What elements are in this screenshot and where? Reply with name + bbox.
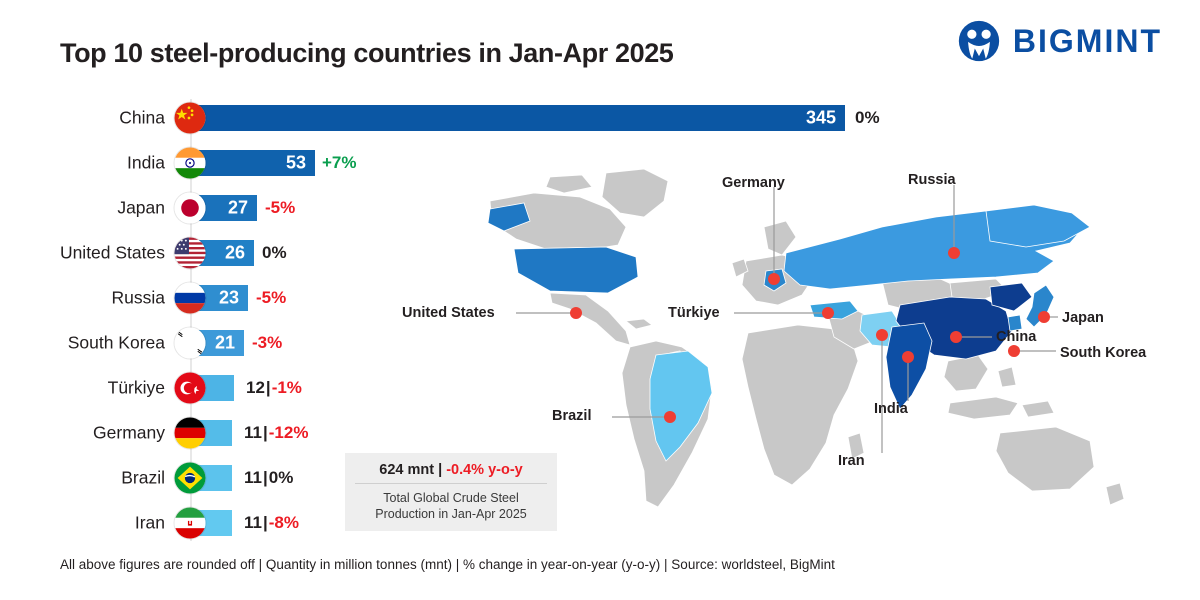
bar-value: 23	[219, 287, 239, 308]
bar-country-label: India	[127, 152, 165, 173]
bar-country-label: China	[119, 107, 165, 128]
bar-country-label: United States	[60, 242, 165, 263]
header: Top 10 steel-producing countries in Jan-…	[0, 0, 1200, 92]
bar-value: 27	[228, 197, 248, 218]
map-label-turkiye: Türkiye	[668, 305, 720, 321]
bar-change: -3%	[252, 333, 282, 353]
flag-br-icon	[175, 462, 206, 493]
bar-country-label: Russia	[112, 287, 166, 308]
flag-us-icon	[175, 237, 206, 268]
bar-change: +7%	[322, 153, 357, 173]
map-marker-turkiye	[822, 307, 834, 319]
brand-name: BIGMINT	[1013, 25, 1162, 57]
table-row[interactable]: United States 26 0%	[0, 230, 440, 275]
table-row[interactable]: Russia 23 -5%	[0, 275, 440, 320]
bar-change: -5%	[256, 288, 286, 308]
map-marker-united-states	[570, 307, 582, 319]
bar-change: -12%	[269, 423, 309, 442]
map-label-japan: Japan	[1062, 310, 1104, 326]
table-row[interactable]: India 53 +7%	[0, 140, 440, 185]
bar-change: -5%	[265, 198, 295, 218]
bar-track: 53	[190, 150, 315, 176]
bar-change: -1%	[272, 378, 302, 397]
bar-value: 12	[246, 378, 265, 397]
bar-value: 21	[215, 332, 235, 353]
footnote: All above figures are rounded off | Quan…	[60, 557, 835, 572]
bar-value: 11	[244, 423, 262, 442]
bar-fill: 53	[190, 150, 315, 176]
map-country-russia-east	[986, 205, 1090, 247]
flag-kr-icon	[175, 327, 206, 358]
bar-value-change: 11|0%	[244, 468, 293, 488]
bar-track: 345	[190, 105, 845, 131]
map-marker-germany	[768, 273, 780, 285]
flag-ru-icon	[175, 282, 206, 313]
value-separator: |	[262, 513, 269, 532]
bar-country-label: Türkiye	[108, 377, 165, 398]
page-title: Top 10 steel-producing countries in Jan-…	[60, 38, 673, 69]
map-marker-south-korea	[1008, 345, 1020, 357]
bar-value: 26	[225, 242, 245, 263]
flag-jp-icon	[175, 192, 206, 223]
map-country-brazil	[650, 351, 712, 461]
world-map: Germany Russia United States Türkiye Jap…	[430, 165, 1200, 555]
map-label-iran: Iran	[838, 453, 865, 469]
brand-logo: BIGMINT	[958, 20, 1162, 62]
flag-ir-icon	[175, 507, 206, 538]
map-country-united-states	[514, 247, 638, 293]
map-label-india: India	[874, 401, 908, 417]
flag-tr-icon	[175, 372, 206, 403]
flag-in-icon	[175, 147, 206, 178]
bar-value-change: 11|-12%	[244, 423, 308, 443]
map-marker-russia	[948, 247, 960, 259]
table-row[interactable]: China 345 0%	[0, 95, 440, 140]
bar-country-label: Iran	[135, 512, 165, 533]
map-label-germany: Germany	[722, 175, 785, 191]
bar-change: -8%	[269, 513, 299, 532]
bar-country-label: Japan	[117, 197, 165, 218]
bar-value: 53	[286, 152, 306, 173]
summary-total: 624 mnt	[379, 462, 434, 478]
bar-value: 345	[806, 107, 836, 128]
map-label-brazil: Brazil	[552, 408, 592, 424]
map-label-south-korea: South Korea	[1060, 345, 1146, 361]
value-separator: |	[262, 423, 269, 442]
bar-value-change: 11|-8%	[244, 513, 299, 533]
bar-change: 0%	[269, 468, 294, 487]
bigmint-logo-icon	[958, 20, 1000, 62]
map-label-united-states: United States	[402, 305, 495, 321]
map-marker-japan	[1038, 311, 1050, 323]
map-marker-india	[902, 351, 914, 363]
bar-value: 11	[244, 513, 262, 532]
bar-country-label: Germany	[93, 422, 165, 443]
bar-change: 0%	[855, 108, 880, 128]
bar-country-label: South Korea	[68, 332, 165, 353]
table-row[interactable]: Japan 27 -5%	[0, 185, 440, 230]
bar-change: 0%	[262, 243, 287, 263]
map-label-china: China	[996, 329, 1036, 345]
map-country-india	[886, 323, 932, 409]
bar-fill: 345	[190, 105, 845, 131]
flag-de-icon	[175, 417, 206, 448]
flag-cn-icon	[175, 102, 206, 133]
map-label-russia: Russia	[908, 172, 956, 188]
map-marker-iran	[876, 329, 888, 341]
table-row[interactable]: South Korea 21 -3%	[0, 320, 440, 365]
bar-country-label: Brazil	[121, 467, 165, 488]
value-separator: |	[265, 378, 272, 397]
bar-value: 11	[244, 468, 262, 487]
bar-value-change: 12|-1%	[246, 378, 302, 398]
table-row[interactable]: Germany 11|-12%	[0, 410, 440, 455]
value-separator: |	[262, 468, 269, 487]
map-marker-china	[950, 331, 962, 343]
table-row[interactable]: Türkiye 12|-1%	[0, 365, 440, 410]
map-marker-brazil	[664, 411, 676, 423]
